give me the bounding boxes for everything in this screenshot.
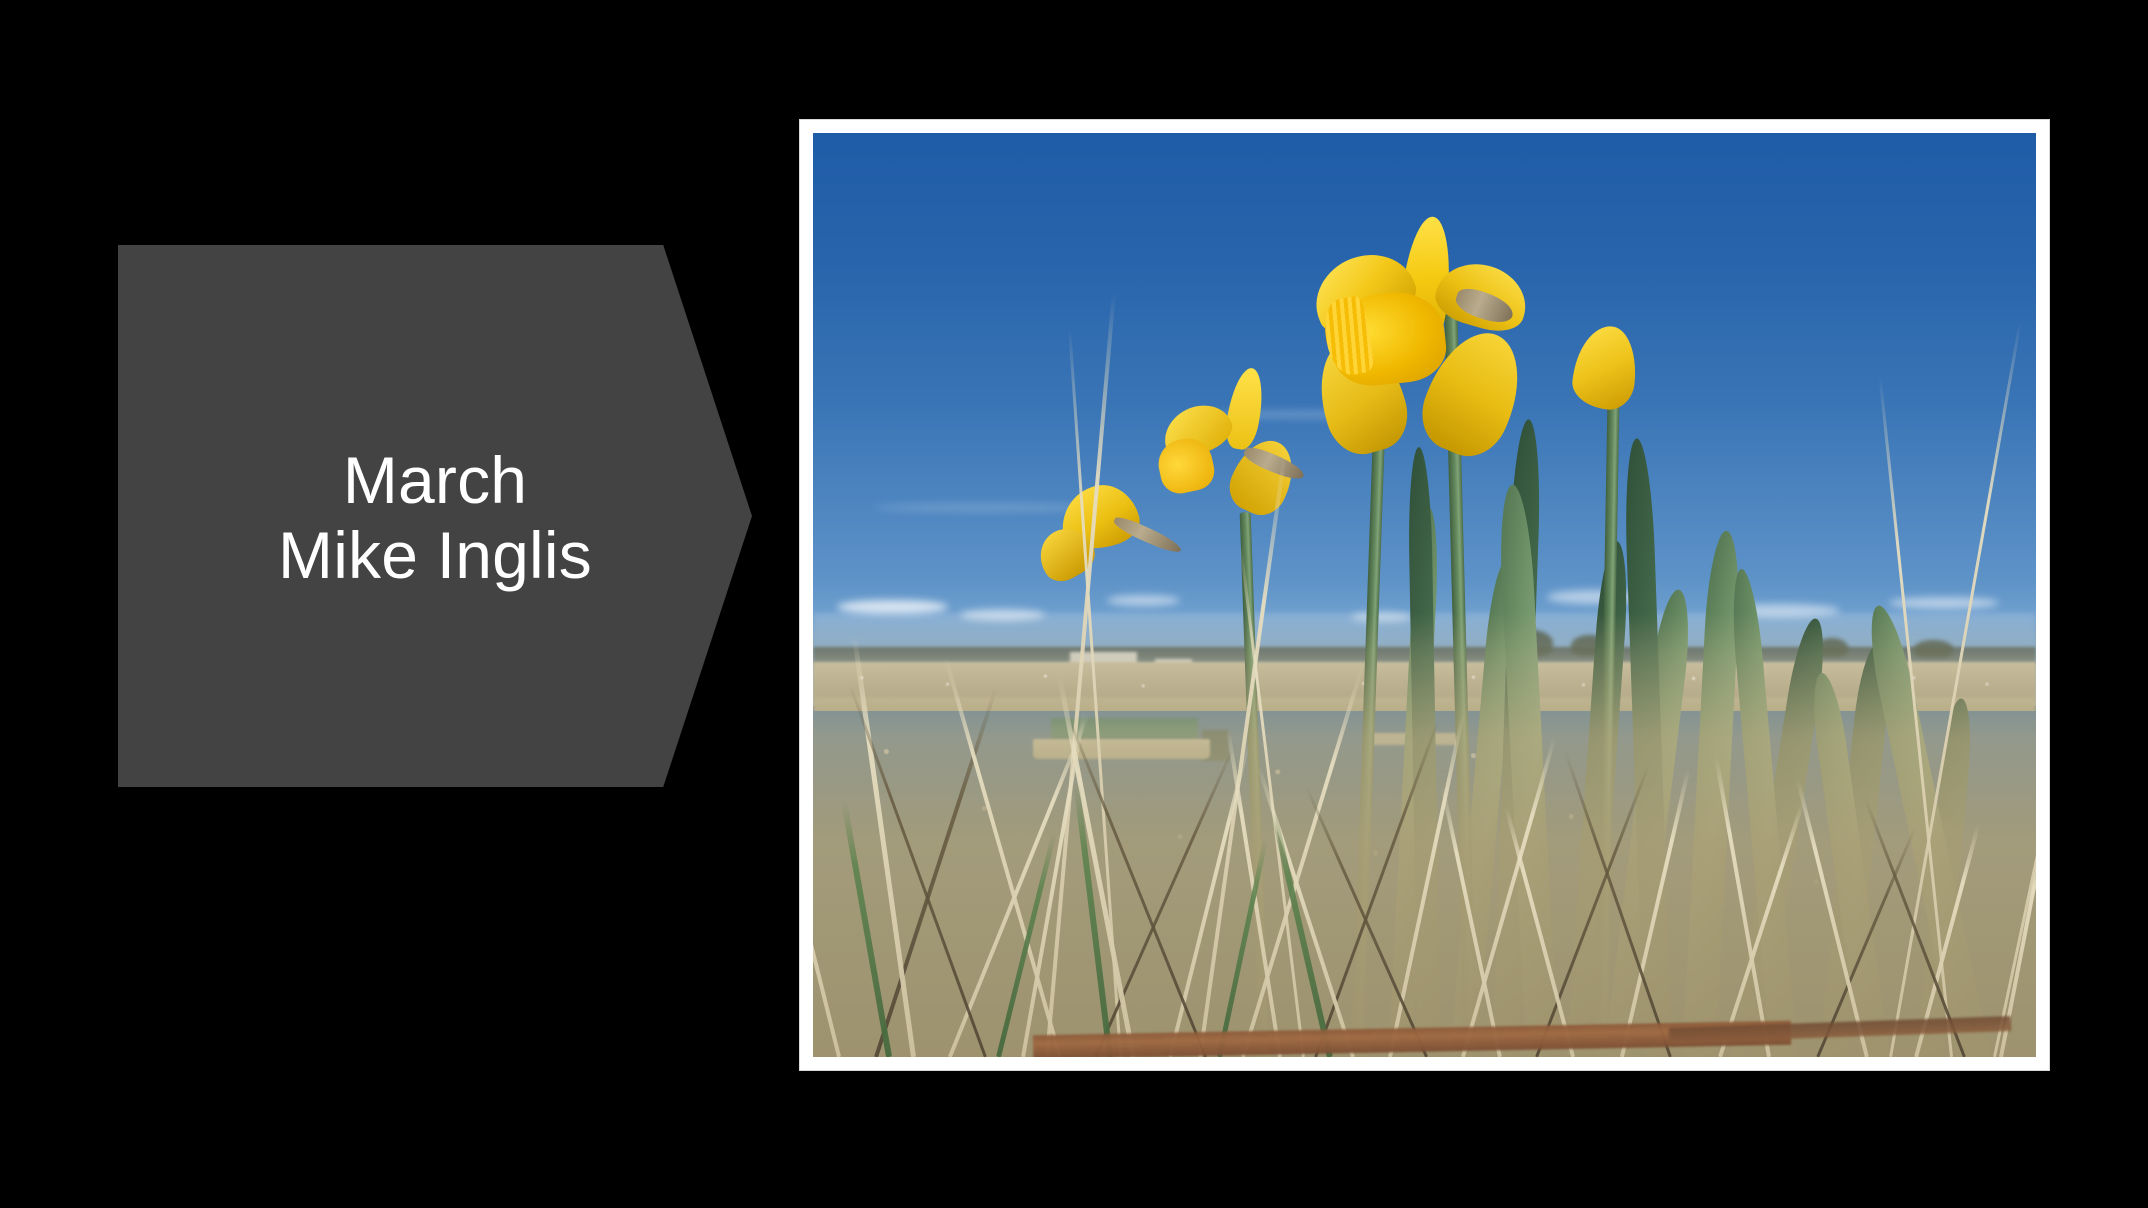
daffodil-bud	[1051, 475, 1186, 586]
photograph	[813, 133, 2036, 1057]
banner-text-block: March Mike Inglis	[161, 443, 709, 593]
photo-frame	[800, 120, 2049, 1070]
horizon-cloud	[837, 600, 947, 615]
banner-author-line: Mike Inglis	[161, 518, 709, 593]
bud-body	[1570, 323, 1640, 412]
horizon-cloud	[1107, 595, 1180, 606]
title-banner: March Mike Inglis	[118, 245, 752, 787]
petal	[1223, 365, 1268, 451]
banner-title-line: March	[161, 443, 709, 518]
daffodil-flower-main	[1278, 221, 1547, 461]
slide-canvas: March Mike Inglis	[0, 0, 2148, 1208]
daffodil-bud-right	[1565, 322, 1651, 424]
